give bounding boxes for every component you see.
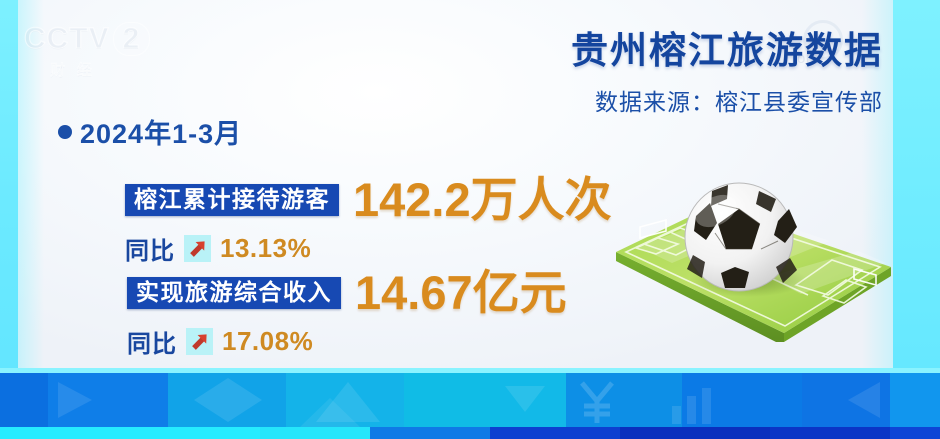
soccer-ball-on-pitch-illustration (608, 175, 898, 360)
left-edge-fade (18, 0, 44, 368)
stat-change-line: 同比 17.08% (127, 324, 567, 359)
arrow-up-right-icon (186, 328, 213, 355)
period-label: 2024年1-3月 (80, 112, 242, 151)
right-cyan-edge (893, 0, 940, 368)
stat-change-line: 同比 13.13% (125, 231, 612, 266)
bullet-dot-icon (58, 125, 72, 139)
data-source-subtitle: 数据来源：榕江县委宣传部 (595, 83, 883, 117)
period-line: 2024年1-3月 (58, 112, 242, 151)
compare-label: 同比 (125, 231, 175, 266)
stat-headline: 实现旅游综合收入 14.67亿元 (127, 269, 567, 316)
stat-change-value: 17.08% (222, 326, 313, 357)
stat-value: 142.2万人次 (353, 176, 612, 223)
compare-label: 同比 (127, 324, 177, 359)
arrow-up-right-icon (184, 235, 211, 262)
stat-value: 14.67亿元 (355, 269, 567, 316)
stat-block-visitors: 榕江累计接待游客 142.2万人次 同比 13.13% (125, 176, 612, 266)
left-cyan-edge (0, 0, 18, 368)
stat-change-value: 13.13% (220, 233, 311, 264)
stat-headline: 榕江累计接待游客 142.2万人次 (125, 176, 612, 223)
page-title: 贵州榕江旅游数据 (571, 20, 883, 74)
stat-badge-label: 榕江累计接待游客 (125, 184, 339, 216)
decorative-blue-mosaic-bar (0, 368, 940, 439)
infographic-screen: CCTV2 财经 om 贵州榕江旅游数据 数据来源：榕江县委宣传部 2024年1… (0, 0, 940, 439)
soccer-ball-icon (685, 183, 797, 291)
stat-badge-label: 实现旅游综合收入 (127, 277, 341, 309)
stat-block-revenue: 实现旅游综合收入 14.67亿元 同比 17.08% (127, 269, 567, 359)
